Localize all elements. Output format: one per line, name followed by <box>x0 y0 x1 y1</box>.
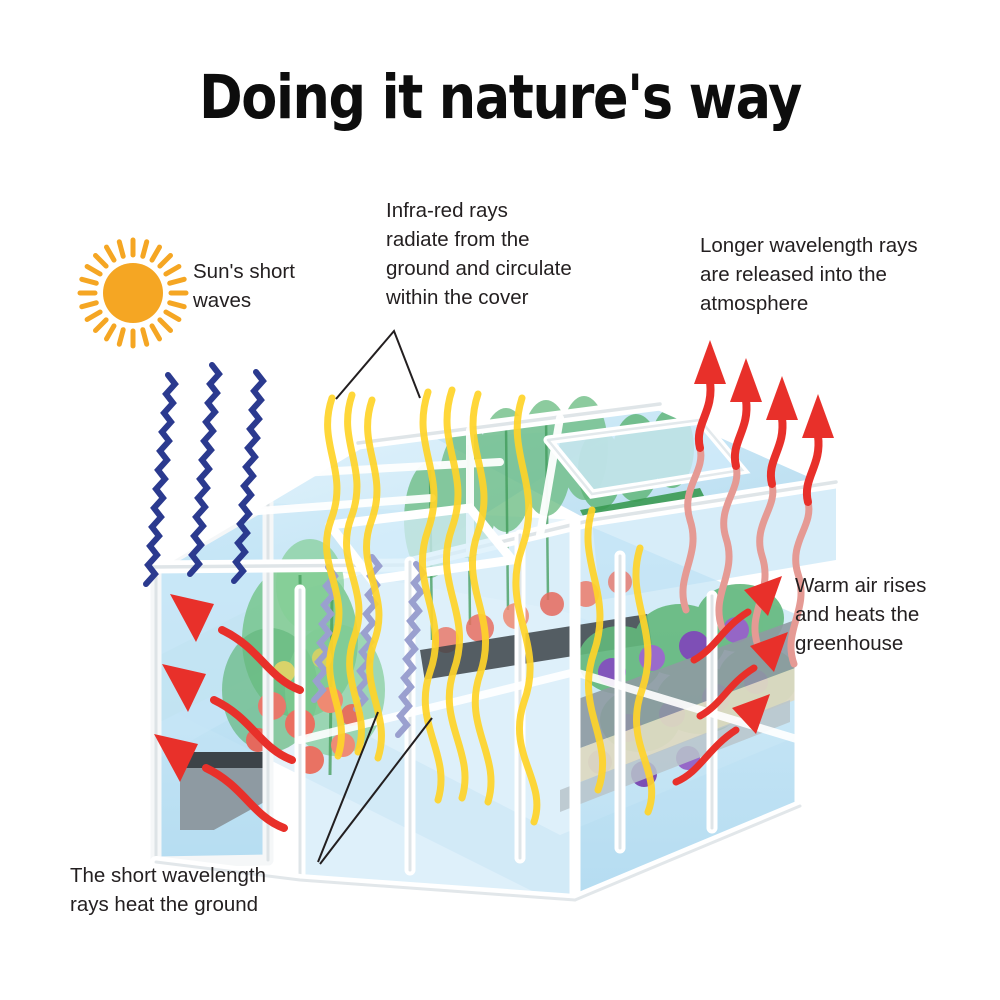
sun-icon <box>80 240 186 346</box>
greenhouse-diagram <box>0 0 1000 1000</box>
infographic-canvas: Doing it nature's way <box>0 0 1000 1000</box>
caption-short-wavelength-ground: The short wavelength rays heat the groun… <box>70 861 320 919</box>
caption-longer-wavelength: Longer wavelength rays are released into… <box>700 231 960 318</box>
caption-suns-short-waves: Sun's short waves <box>193 257 373 315</box>
caption-infrared-rays: Infra-red rays radiate from the ground a… <box>386 196 616 312</box>
caption-warm-air-rises: Warm air rises and heats the greenhouse <box>795 571 995 658</box>
leader-infrared-chevron <box>336 331 420 399</box>
